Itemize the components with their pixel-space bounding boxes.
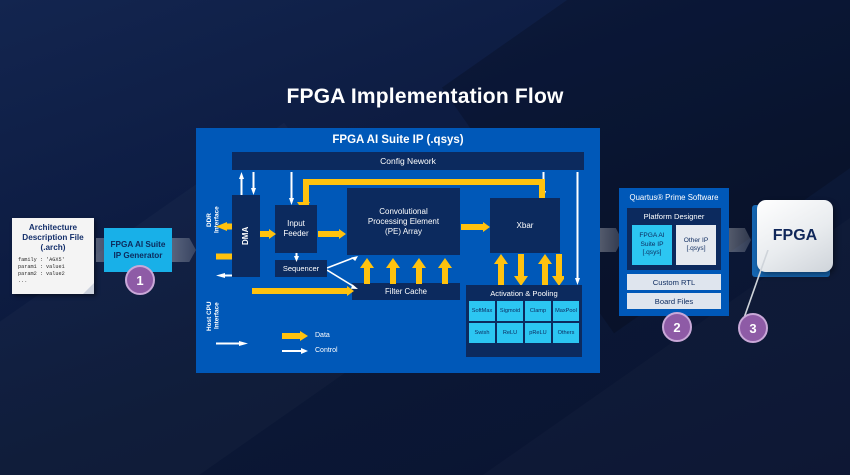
dma-block: DMA bbox=[232, 195, 260, 277]
file-title-line2: Description File bbox=[12, 233, 94, 243]
data-arrow-icon bbox=[282, 331, 308, 341]
config-to-dma-control-arrow-down bbox=[250, 172, 257, 195]
sequencer-block: Sequencer bbox=[275, 260, 327, 277]
config-to-activation-control-arrow bbox=[574, 172, 581, 285]
activation-chip: pReLU bbox=[525, 323, 551, 343]
filter-cache-block: Filter Cache bbox=[352, 283, 460, 300]
platform-designer-title: Platform Designer bbox=[627, 208, 721, 221]
platform-designer-block: Platform Designer FPGA AI Suite IP [.qsy… bbox=[627, 208, 721, 270]
host-cpu-interface-label: Host CPU Interface bbox=[206, 285, 221, 347]
activation-chip-grid: SoftMax Sigmoid Clamp MaxPool Swish ReLU… bbox=[466, 298, 582, 343]
platform-designer-ips: FPGA AI Suite IP [.qsys] Other IP [.qsys… bbox=[627, 221, 721, 265]
input-feeder-to-sequencer-arrow bbox=[293, 253, 300, 262]
input-feeder-block: Input Feeder bbox=[275, 205, 317, 253]
activation-chip: Swish bbox=[469, 323, 495, 343]
config-network-block: Config Nework bbox=[232, 152, 584, 170]
xbar-block: Xbar bbox=[490, 198, 560, 253]
generator-line1: FPGA AI Suite bbox=[111, 239, 166, 250]
step-badge-3: 3 bbox=[738, 313, 768, 343]
legend-row-control: Control bbox=[282, 343, 338, 358]
pe-to-xbar-arrow bbox=[461, 222, 490, 232]
dma-to-input-feeder-arrow bbox=[260, 229, 276, 239]
legend-row-data: Data bbox=[282, 328, 338, 343]
activation-chip: Others bbox=[553, 323, 579, 343]
host-cpu-control-arrow bbox=[216, 340, 248, 347]
legend: Data Control bbox=[282, 328, 338, 358]
legend-label-control: Control bbox=[315, 347, 338, 354]
file-title-line1: Architecture bbox=[12, 223, 94, 233]
file-card-title: Architecture Description File (.arch) bbox=[12, 218, 94, 253]
fpga-ai-suite-ip-tile: FPGA AI Suite IP [.qsys] bbox=[632, 225, 672, 265]
file-card-code: family : 'AGX5' param1 : value1 param2 :… bbox=[18, 257, 94, 285]
activation-chip: Clamp bbox=[525, 301, 551, 321]
board-files-bar: Board Files bbox=[627, 293, 721, 309]
activation-chip: SoftMax bbox=[469, 301, 495, 321]
xbar-activation-arrows bbox=[494, 254, 564, 286]
legend-label-data: Data bbox=[315, 332, 330, 339]
activation-pooling-title: Activation & Pooling bbox=[466, 285, 582, 298]
filter-cache-to-pe-arrows bbox=[360, 258, 456, 284]
ip-panel-title: FPGA AI Suite IP (.qsys) bbox=[196, 128, 600, 146]
control-arrow-icon bbox=[282, 347, 308, 355]
page-title: FPGA Implementation Flow bbox=[0, 85, 850, 109]
diagram-canvas: FPGA Implementation Flow Architecture De… bbox=[0, 0, 850, 475]
activation-chip: ReLU bbox=[497, 323, 523, 343]
file-title-line3: (.arch) bbox=[12, 243, 94, 253]
activation-chip: MaxPool bbox=[553, 301, 579, 321]
step-badge-1: 1 bbox=[125, 265, 155, 295]
other-ip-tile: Other IP [.qsys] bbox=[676, 225, 716, 265]
pe-array-block: Convolutional Processing Element (PE) Ar… bbox=[347, 188, 460, 255]
input-feeder-to-pe-arrow bbox=[318, 229, 346, 239]
host-to-filter-cache-arrow bbox=[252, 286, 354, 296]
activation-pooling-block: Activation & Pooling SoftMax Sigmoid Cla… bbox=[466, 285, 582, 357]
generator-line2: IP Generator bbox=[111, 250, 166, 261]
connector-generator-to-ip bbox=[172, 238, 196, 262]
ddr-interface-label: DDR Interface bbox=[206, 196, 221, 244]
file-fold-corner bbox=[83, 283, 94, 294]
connector-quartus-to-fpga bbox=[729, 228, 751, 252]
config-to-dma-control-arrow-up bbox=[238, 172, 245, 195]
quartus-title: Quartus® Prime Software bbox=[619, 188, 729, 202]
config-to-input-feeder-control-arrow bbox=[288, 172, 295, 205]
architecture-description-file: Architecture Description File (.arch) fa… bbox=[12, 218, 94, 294]
activation-chip: Sigmoid bbox=[497, 301, 523, 321]
custom-rtl-bar: Custom RTL bbox=[627, 274, 721, 290]
step-badge-2: 2 bbox=[662, 312, 692, 342]
